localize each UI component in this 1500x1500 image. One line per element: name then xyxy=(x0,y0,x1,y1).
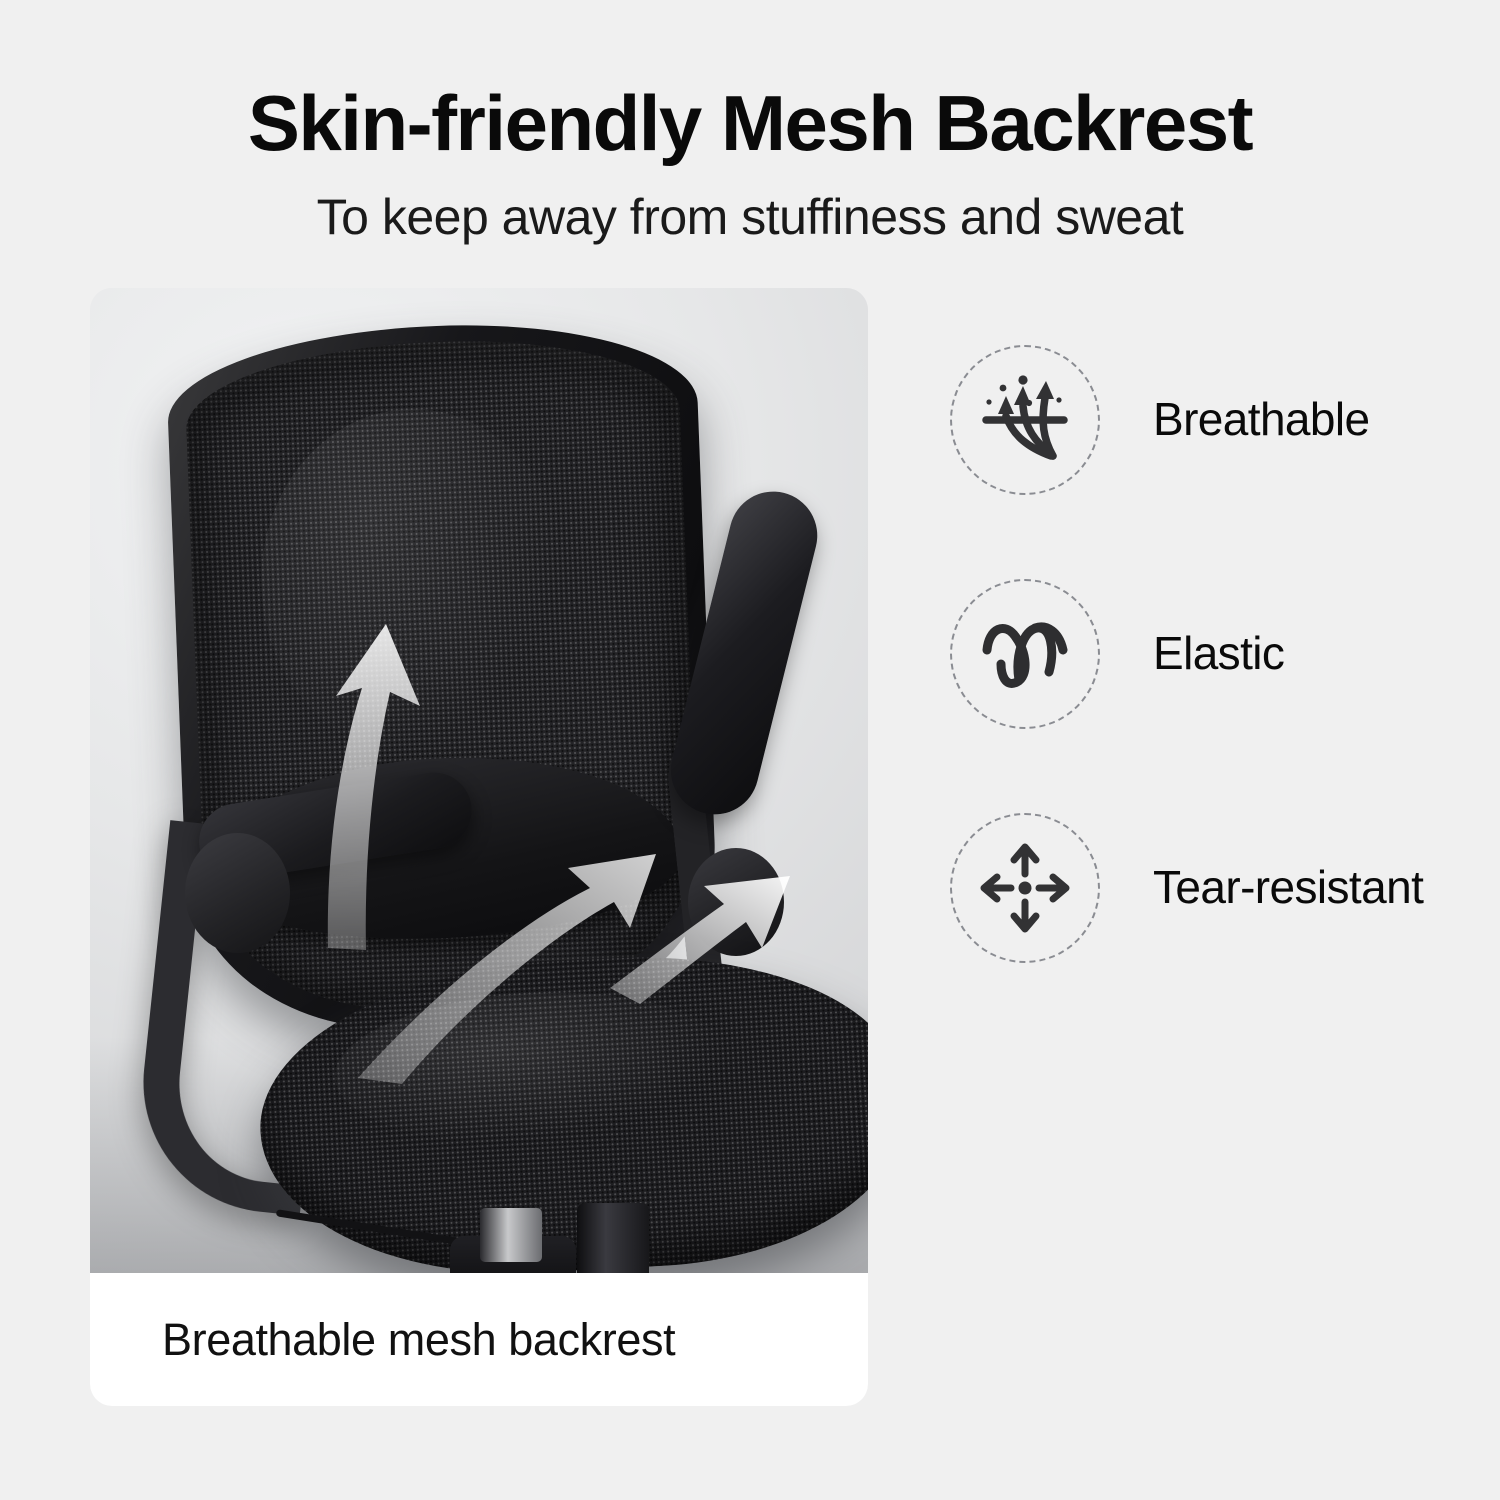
product-photo-card: Breathable mesh backrest xyxy=(90,288,868,1406)
feature-label-tear-resistant: Tear-resistant xyxy=(1153,862,1423,914)
feature-label-elastic: Elastic xyxy=(1153,628,1284,680)
feature-item-tear-resistant: Tear-resistant xyxy=(950,788,1470,988)
gas-cylinder xyxy=(577,1203,649,1273)
chair-photograph xyxy=(90,288,868,1273)
feature-icon-circle xyxy=(950,813,1100,963)
seat-highlight xyxy=(331,983,735,1152)
header: Skin-friendly Mesh Backrest To keep away… xyxy=(0,0,1500,242)
feature-item-breathable: Breathable xyxy=(950,320,1470,520)
page-title: Skin-friendly Mesh Backrest xyxy=(0,84,1500,162)
page-subtitle: To keep away from stuffiness and sweat xyxy=(0,192,1500,242)
feature-icon-circle xyxy=(950,579,1100,729)
feature-item-elastic: Elastic xyxy=(950,554,1470,754)
feature-icon-circle xyxy=(950,345,1100,495)
breathable-airflow-icon xyxy=(973,368,1077,472)
photo-caption: Breathable mesh backrest xyxy=(162,1314,675,1366)
photo-caption-panel: Breathable mesh backrest xyxy=(90,1273,868,1406)
tear-resistant-arrows-icon xyxy=(973,836,1077,940)
armrest-right-pivot-knob xyxy=(688,848,784,956)
elastic-spring-icon xyxy=(973,602,1077,706)
backrest-highlight xyxy=(255,404,574,761)
feature-list: Breathable Elastic xyxy=(950,320,1470,988)
gas-cylinder-chrome xyxy=(480,1208,542,1262)
armrest-left-pivot-knob xyxy=(185,833,290,953)
feature-label-breathable: Breathable xyxy=(1153,394,1370,446)
